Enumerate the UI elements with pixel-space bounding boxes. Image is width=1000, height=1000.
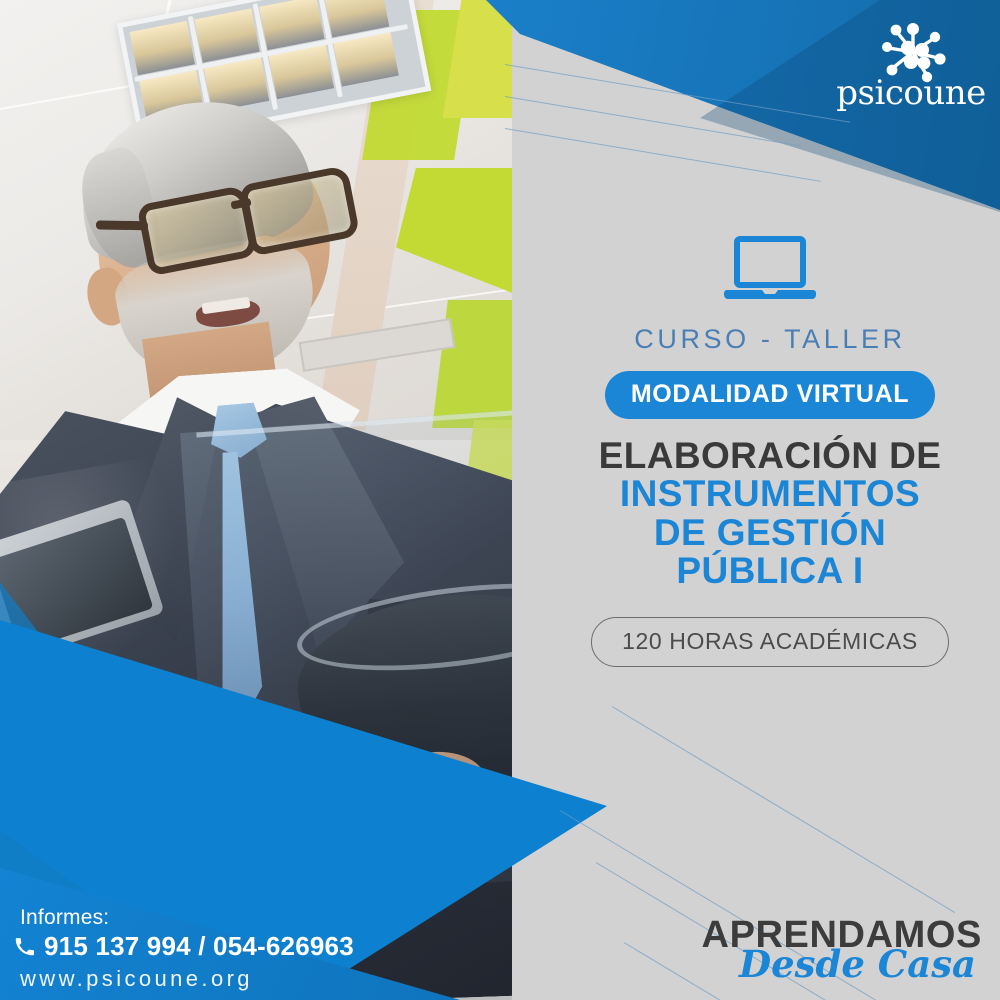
course-title-line-1: ELABORACIÓN DE <box>540 437 1000 475</box>
course-title-line-2: INSTRUMENTOS <box>540 475 1000 513</box>
phone-icon <box>14 936 35 957</box>
course-flyer: psicoune CURSO - TALLER MODALIDAD VIRTUA… <box>0 0 1000 1000</box>
informes-label: Informes: <box>20 906 109 930</box>
tagline-line-2: Desde Casa <box>702 946 976 983</box>
brand-wordmark: psicoune <box>836 76 986 110</box>
tagline: APRENDAMOS Desde Casa <box>702 916 982 983</box>
course-title-line-4: PÚBLICA I <box>540 552 1000 590</box>
laptop-icon <box>724 236 816 302</box>
course-title-line-3: DE GESTIÓN <box>540 514 1000 552</box>
course-kicker: CURSO - TALLER <box>540 324 1000 355</box>
modality-badge: MODALIDAD VIRTUAL <box>605 371 935 419</box>
website-url[interactable]: www.psicoune.org <box>20 966 253 992</box>
course-title: ELABORACIÓN DE INSTRUMENTOS DE GESTIÓN P… <box>540 437 1000 591</box>
phone-numbers: 915 137 994 / 054-626963 <box>44 931 354 962</box>
brand-logo[interactable]: psicoune <box>836 22 986 114</box>
decor-line <box>612 706 955 913</box>
course-info-panel: CURSO - TALLER MODALIDAD VIRTUAL ELABORA… <box>540 236 1000 667</box>
phone-contact[interactable]: 915 137 994 / 054-626963 <box>14 931 354 962</box>
academic-hours-badge: 120 HORAS ACADÉMICAS <box>591 617 949 667</box>
